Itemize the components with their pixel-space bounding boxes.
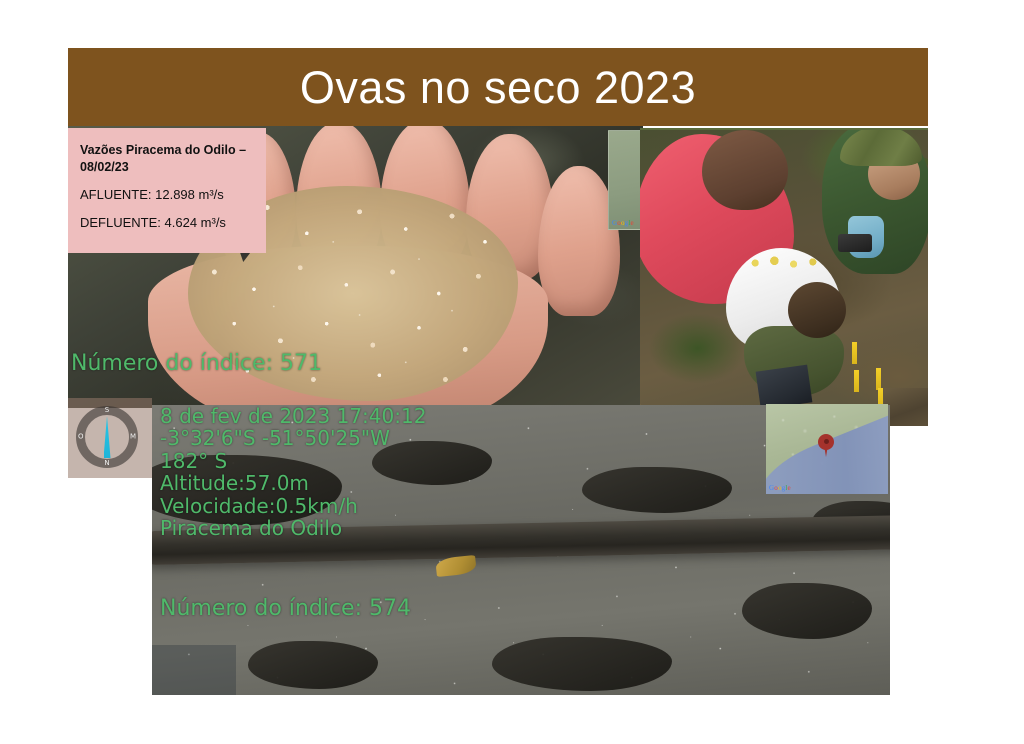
google-letter-e: e xyxy=(631,219,634,227)
compass-label-north: N xyxy=(104,460,109,467)
compass-label-south: S xyxy=(105,407,109,414)
slide-title-bar: Ovas no seco 2023 xyxy=(68,48,928,126)
dark-ground-patch xyxy=(248,641,378,689)
index-number-caption-571: Número do índice: 571 xyxy=(71,352,322,377)
person-head xyxy=(788,282,846,338)
vazoes-box-title: Vazões Piracema do Odilo – 08/02/23 xyxy=(80,142,254,175)
vazoes-afluente-value: AFLUENTE: 12.898 m³/s xyxy=(80,187,254,204)
map-location-pin-icon[interactable] xyxy=(818,434,834,450)
vazoes-defluente-value: DEFLUENTE: 4.624 m³/s xyxy=(80,215,254,232)
compass-label-east: M xyxy=(130,434,136,441)
page-title: Ovas no seco 2023 xyxy=(300,65,696,110)
slide-canvas: Ovas no seco 2023 Google Número do índic… xyxy=(0,0,1024,744)
gps-place-name: Piracema do Odilo xyxy=(160,517,426,539)
map-inset-bottom[interactable]: Google xyxy=(766,404,888,494)
survey-stake xyxy=(876,368,881,390)
handheld-device xyxy=(838,234,872,252)
dark-ground-patch xyxy=(742,583,872,639)
gps-coordinates: -3°32'6"S -51°50'25"W xyxy=(160,427,426,449)
photo-fragment-forest-floor xyxy=(884,388,928,426)
google-watermark: Google xyxy=(769,485,791,492)
google-watermark: Google xyxy=(612,220,634,227)
compass-label-west: O xyxy=(78,434,84,441)
map-inset-top[interactable]: Google xyxy=(608,130,643,230)
google-letter-e: e xyxy=(788,484,791,492)
survey-stake xyxy=(852,342,857,364)
compass-backdrop-bottom: S N O M xyxy=(152,645,236,695)
gps-altitude: Altitude:57.0m xyxy=(160,472,426,494)
gps-bearing: 182° S xyxy=(160,450,426,472)
gps-speed: Velocidade:0.5km/h xyxy=(160,495,426,517)
index-number-caption-574: Número do índice: 574 xyxy=(160,597,411,622)
person-head xyxy=(702,130,788,210)
gps-datetime: 8 de fev de 2023 17:40:12 xyxy=(160,405,426,427)
gps-camera-overlay: 8 de fev de 2023 17:40:12 -3°32'6"S -51°… xyxy=(160,405,426,539)
vazoes-info-box: Vazões Piracema do Odilo – 08/02/23 AFLU… xyxy=(68,128,266,253)
photo-researchers-field-work xyxy=(640,128,928,410)
compass-widget-top: S N O M xyxy=(76,406,138,468)
shirt-yellow-markings xyxy=(744,252,824,274)
sample-tray xyxy=(756,365,813,410)
survey-stake xyxy=(854,370,859,392)
